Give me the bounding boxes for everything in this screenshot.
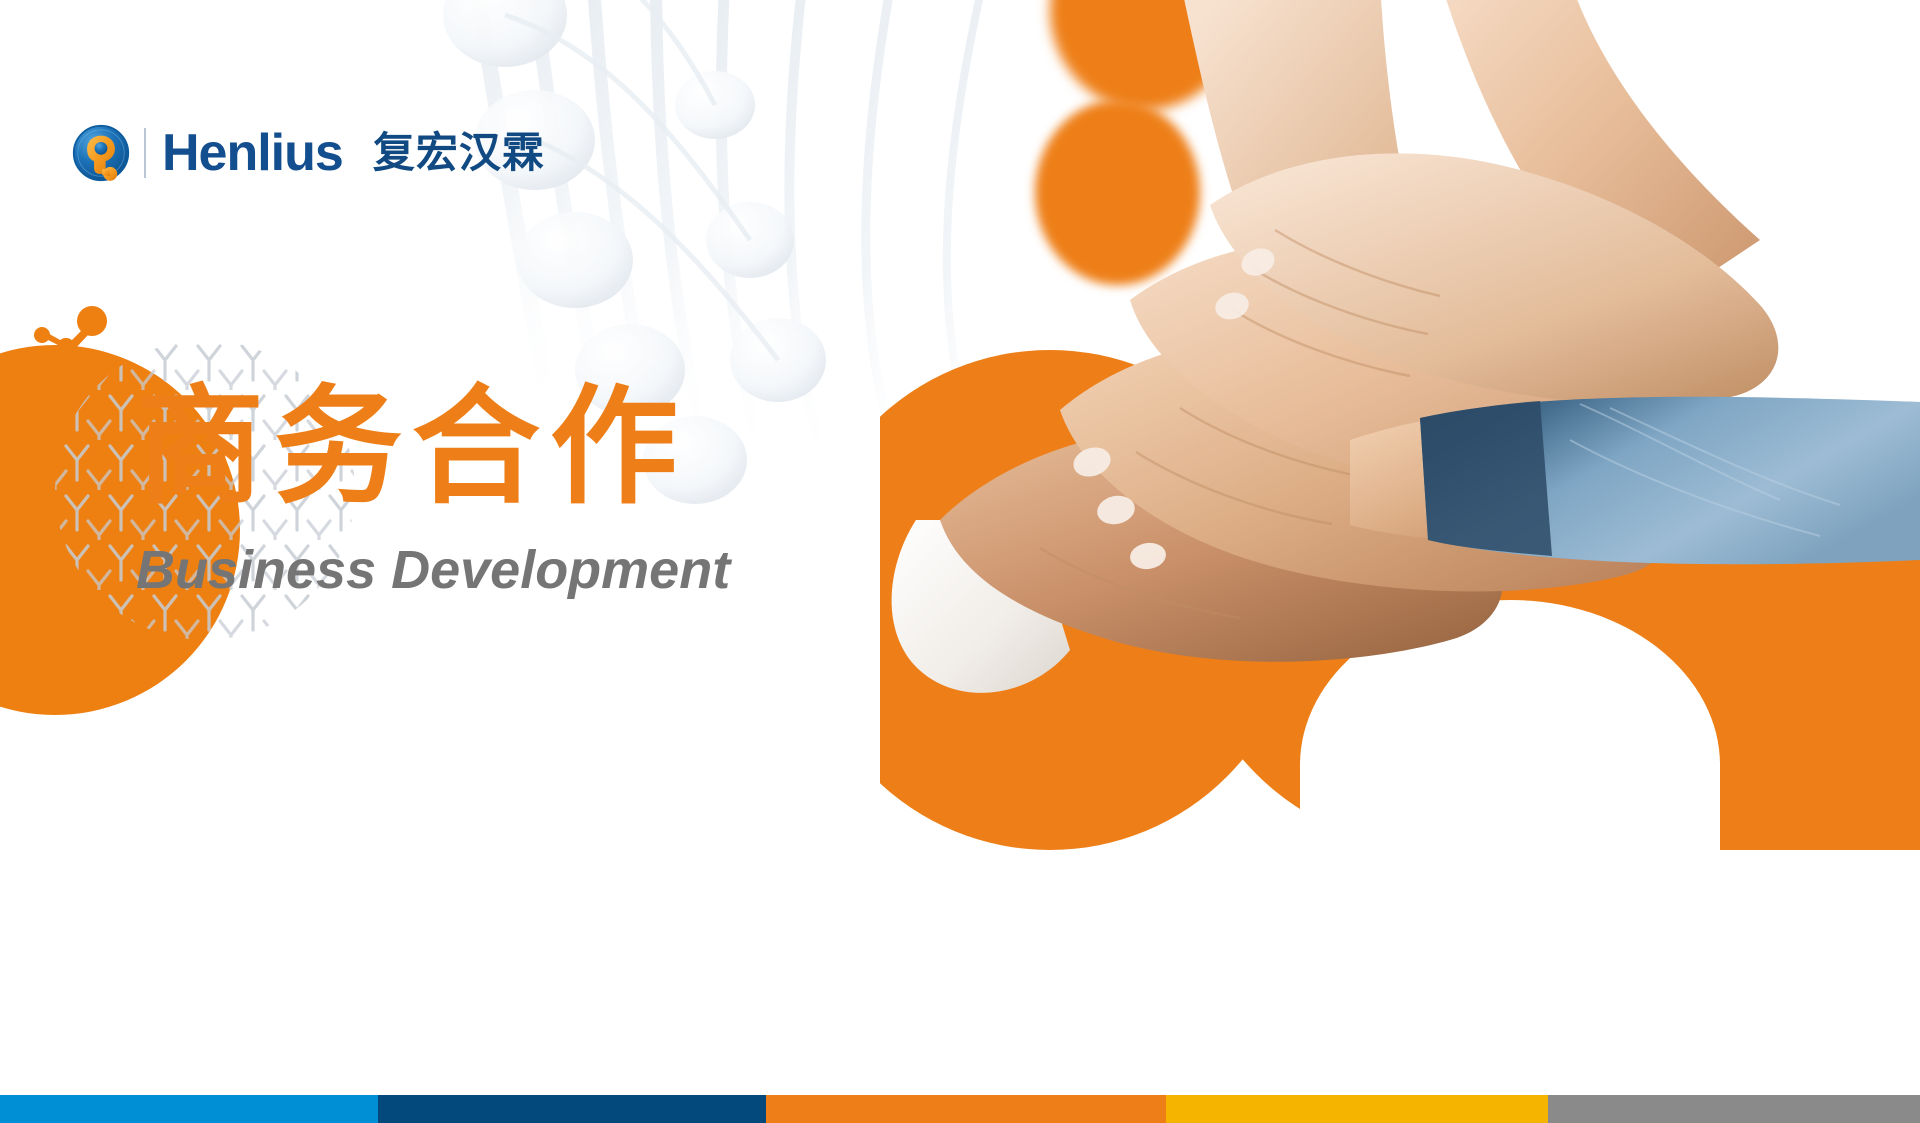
bottom-bar-segment-dark-blue [378,1095,766,1123]
logo-wordmark: Henlius [162,127,343,179]
logo-divider [144,128,146,178]
teamwork-hands-photo [880,0,1920,1000]
molecule-decoration-icon [30,305,110,365]
hands-illustration [880,0,1920,1000]
logo-chinese-name: 复宏汉霖 [373,132,545,174]
bottom-bar-segment-yellow [1166,1095,1548,1123]
page-title-english: Business Development [136,539,916,601]
henlius-logo-mark-icon [72,124,130,182]
title-block: 商务合作 Business Development [136,372,916,601]
bottom-color-bar [0,1095,1920,1123]
bottom-bar-segment-light-blue [0,1095,378,1123]
bottom-bar-segment-orange [766,1095,1166,1123]
page-title-chinese: 商务合作 [136,372,916,523]
bottom-bar-segment-gray [1548,1095,1920,1123]
henlius-logo[interactable]: Henlius 复宏汉霖 [72,120,545,186]
title-slide: Henlius 复宏汉霖 商务合作 Business Development [0,0,1920,1123]
